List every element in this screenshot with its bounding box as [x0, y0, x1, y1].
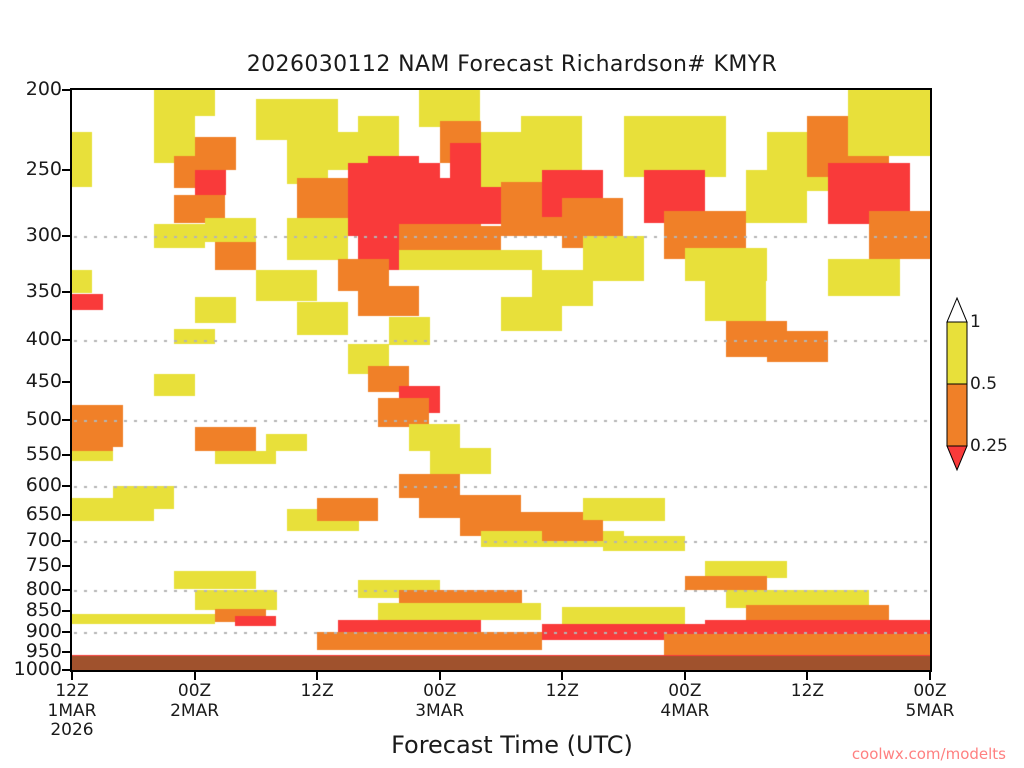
x-tick-label-2: 12Z [257, 682, 377, 702]
x-tick-mark [71, 672, 73, 680]
x-tick-label-4: 12Z [502, 682, 622, 702]
x-tick-label-6: 12Z [747, 682, 867, 702]
x-tick-label-5: 00Z4MAR [625, 682, 745, 721]
x-tick-mark [194, 672, 196, 680]
x-tick-time: 00Z [870, 682, 990, 702]
watermark: coolwx.com/modelts [852, 745, 1006, 763]
x-tick-mark [806, 672, 808, 680]
x-tick-time: 12Z [502, 682, 622, 702]
x-tick-mark [929, 672, 931, 680]
colorbar [944, 296, 970, 472]
colorbar-label-0: 0.25 [970, 436, 1008, 456]
x-tick-time: 00Z [380, 682, 500, 702]
colorbar-under-arrow [947, 446, 967, 470]
x-tick-mark [316, 672, 318, 680]
x-tick-label-3: 00Z3MAR [380, 682, 500, 721]
colorbar-label-2: 1 [970, 312, 981, 332]
chart-page: 2026030112 NAM Forecast Richardson# KMYR… [0, 0, 1024, 768]
x-tick-label-7: 00Z5MAR [870, 682, 990, 721]
x-tick-label-1: 00Z2MAR [135, 682, 255, 721]
x-tick-time: 00Z [135, 682, 255, 702]
colorbar-band-1 [947, 384, 967, 446]
x-tick-date: 5MAR [870, 702, 990, 722]
x-tick-time: 12Z [747, 682, 867, 702]
colorbar-band-0 [947, 322, 967, 384]
x-tick-date: 1MAR [12, 702, 132, 722]
x-tick-date: 3MAR [380, 702, 500, 722]
x-tick-date: 2MAR [135, 702, 255, 722]
x-tick-mark [684, 672, 686, 680]
colorbar-labels: 10.50.25 [968, 296, 1024, 472]
x-axis: 12Z1MAR202600Z2MAR12Z00Z3MAR12Z00Z4MAR12… [0, 0, 1024, 768]
colorbar-over-arrow [947, 298, 967, 322]
x-tick-time: 12Z [12, 682, 132, 702]
x-tick-time: 12Z [257, 682, 377, 702]
x-tick-mark [439, 672, 441, 680]
colorbar-label-1: 0.5 [970, 374, 997, 394]
x-tick-time: 00Z [625, 682, 745, 702]
x-tick-date: 4MAR [625, 702, 745, 722]
x-tick-mark [561, 672, 563, 680]
